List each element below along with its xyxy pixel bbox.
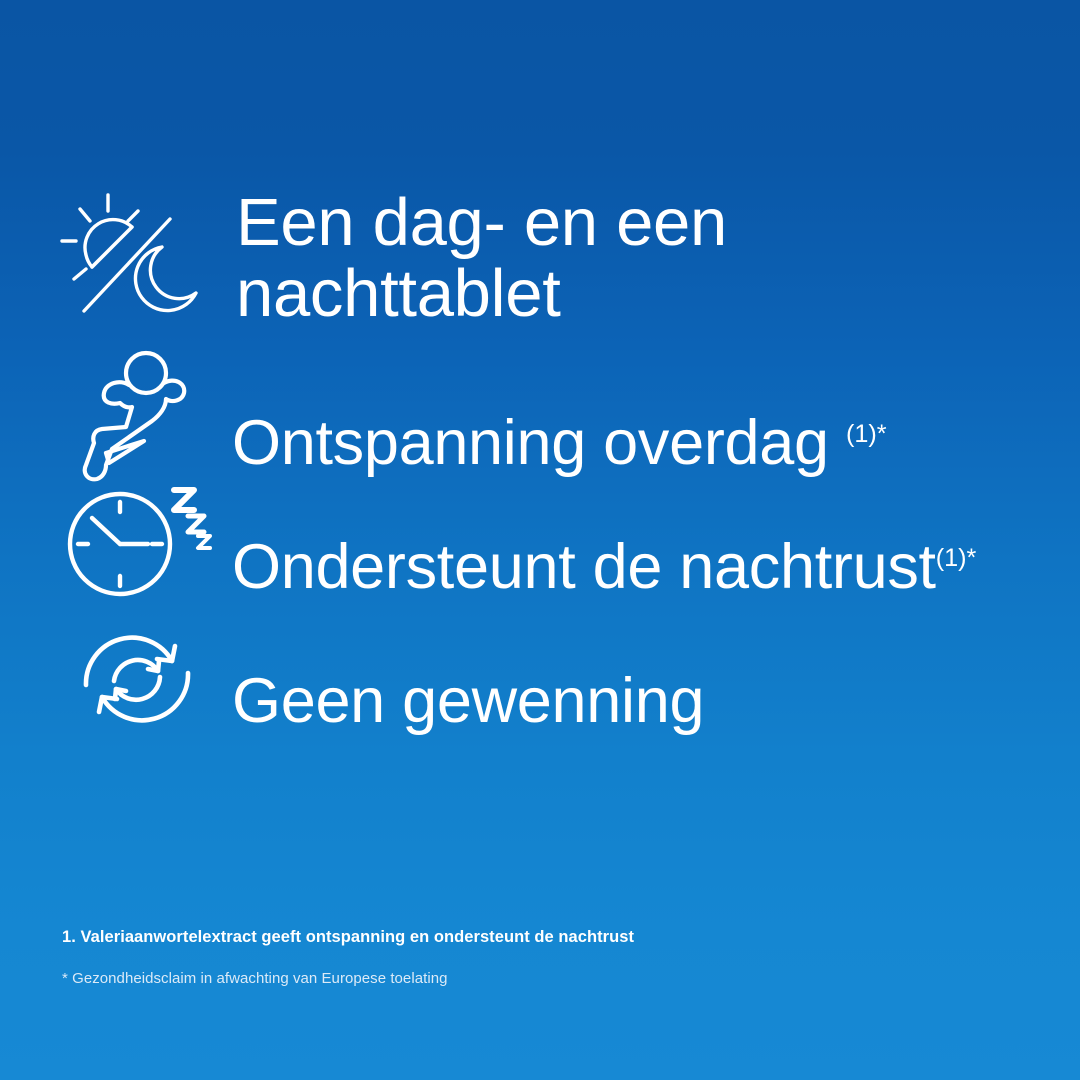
promo-card: Een dag- en een nachttablet Ontspanning … — [0, 0, 1080, 1080]
footnotes: 1. Valeriaanwortelextract geeft ontspann… — [62, 928, 1022, 988]
footnote-reference-1: 1. Valeriaanwortelextract geeft ontspann… — [62, 928, 1022, 948]
feature-label-text: Ondersteunt de nachtrust — [232, 532, 936, 602]
feature-row-day-night-tablet: Een dag- en een nachttablet — [46, 183, 727, 331]
feature-label: Ondersteunt de nachtrust(1)* — [232, 534, 976, 601]
feature-label-text: Ontspanning overdag — [232, 408, 846, 478]
feature-label: Een dag- en een nachttablet — [236, 187, 727, 329]
feature-label-superscript: (1)* — [936, 544, 977, 572]
footnote-health-claim: * Gezondheidsclaim in afwachting van Eur… — [62, 970, 1022, 988]
person-relaxing-icon — [62, 345, 210, 485]
feature-label: Ontspanning overdag (1)* — [232, 410, 887, 477]
sun-moon-icon — [46, 183, 206, 331]
feature-row-supports-night-rest: Ondersteunt de nachtrust(1)* — [62, 482, 976, 604]
feature-label-superscript: (1)* — [846, 420, 887, 448]
clock-sleep-icon — [62, 482, 214, 604]
feature-row-relaxation-daytime: Ontspanning overdag (1)* — [62, 345, 887, 485]
feature-label: Geen gewenning — [232, 668, 704, 735]
cycle-arrows-icon — [62, 619, 212, 739]
feature-row-no-habituation: Geen gewenning — [62, 619, 704, 739]
